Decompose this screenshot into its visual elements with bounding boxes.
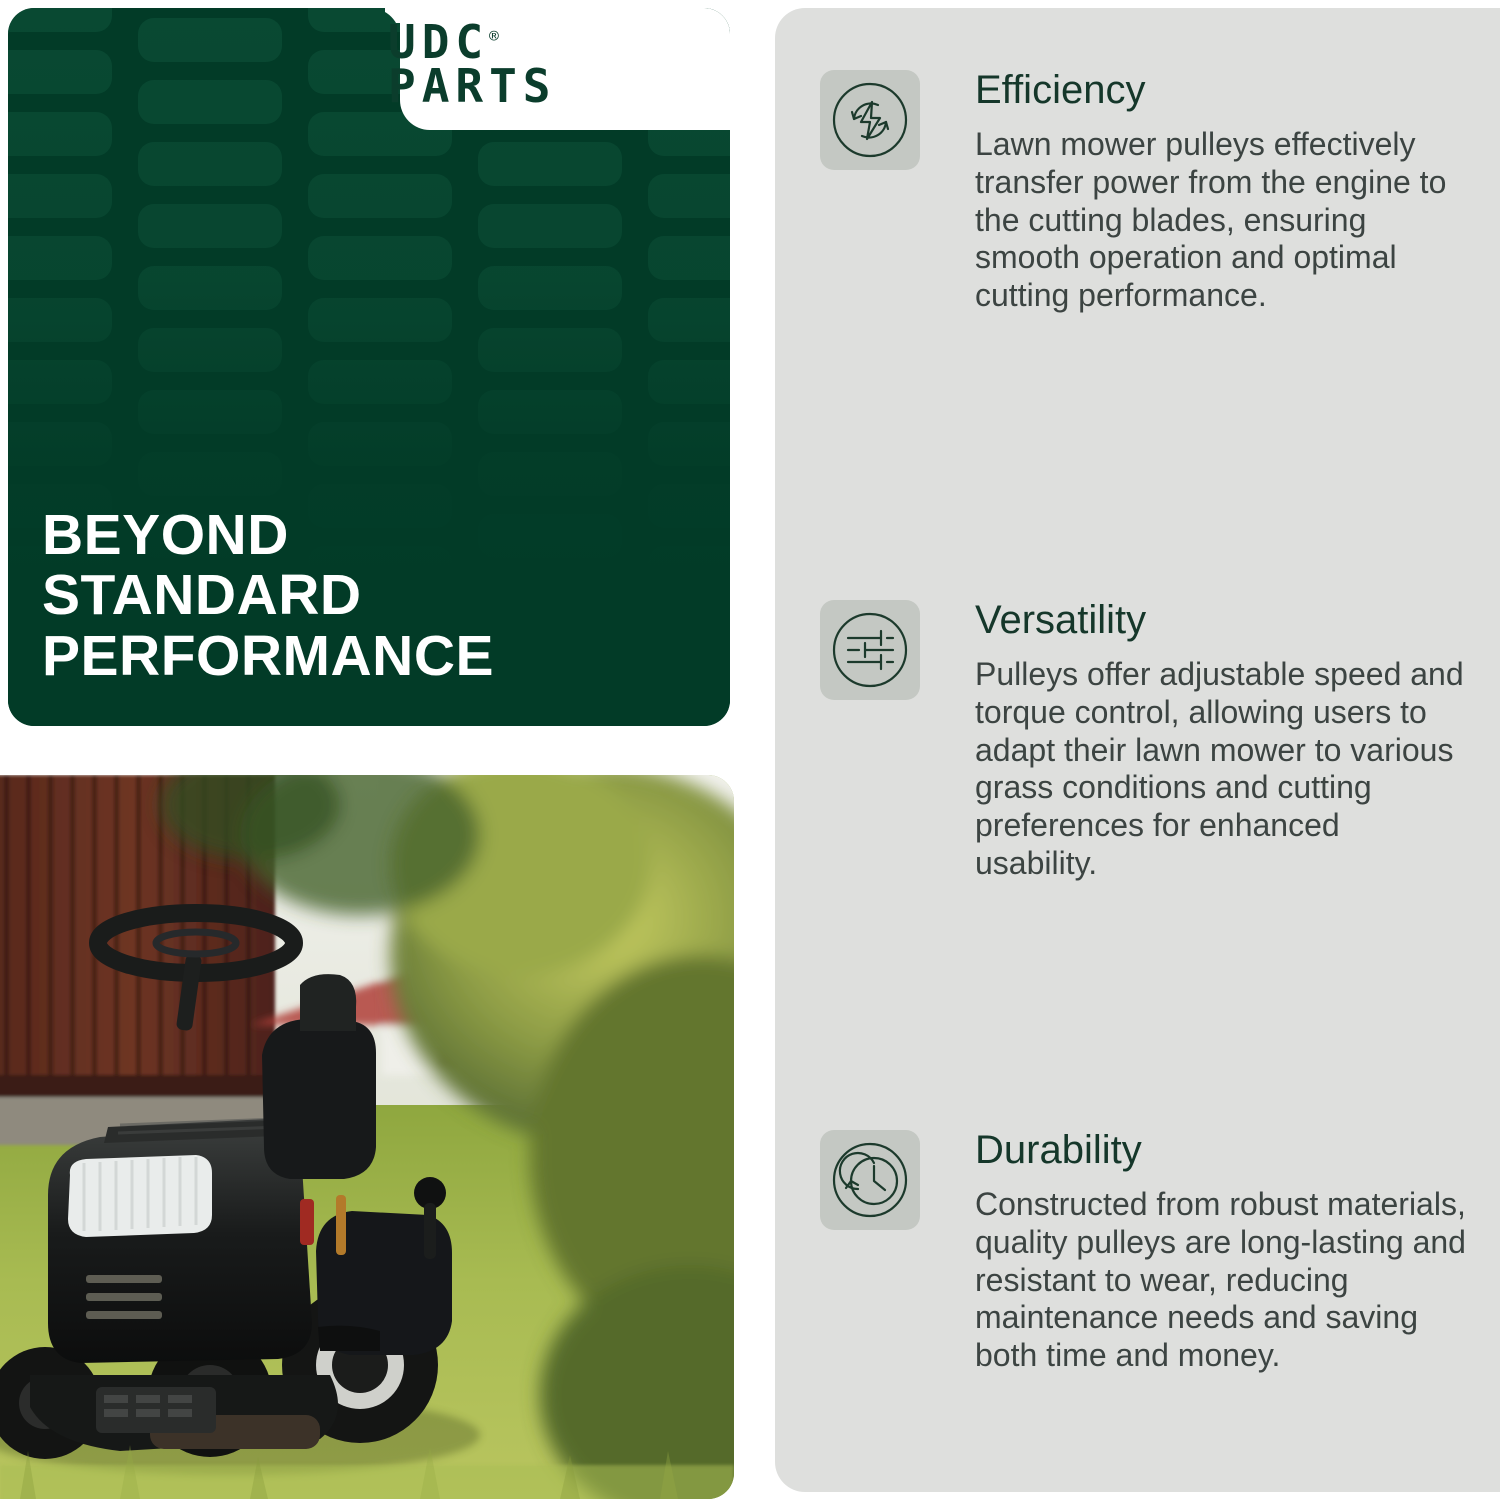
hero-headline-line-1: BEYOND <box>42 505 702 565</box>
lawn-mower-photo <box>0 775 734 1499</box>
left-column: UDC® PARTS BEYOND STANDARD PERFORMANCE <box>0 0 750 1499</box>
feature-description-durability: Constructed from robust materials, quali… <box>975 1186 1470 1375</box>
feature-title-versatility: Versatility <box>975 600 1470 640</box>
brand-logo: UDC® PARTS <box>388 20 688 108</box>
feature-block-efficiency: Efficiency Lawn mower pulleys effectivel… <box>820 70 1470 315</box>
hero-panel: UDC® PARTS BEYOND STANDARD PERFORMANCE <box>8 8 730 726</box>
features-panel: Efficiency Lawn mower pulleys effectivel… <box>775 8 1500 1492</box>
hero-headline-line-2: STANDARD <box>42 565 702 625</box>
feature-block-versatility: Versatility Pulleys offer adjustable spe… <box>820 600 1470 883</box>
sliders-settings-icon <box>820 600 920 700</box>
registered-trademark-icon: ® <box>489 27 499 46</box>
hero-headline: BEYOND STANDARD PERFORMANCE <box>42 505 702 686</box>
feature-title-efficiency: Efficiency <box>975 70 1470 110</box>
energy-recycle-icon <box>820 70 920 170</box>
brand-logo-line-1: UDC® <box>388 20 688 64</box>
feature-body-durability: Durability Constructed from robust mater… <box>975 1130 1470 1375</box>
feature-body-efficiency: Efficiency Lawn mower pulleys effectivel… <box>975 70 1470 315</box>
brand-logo-line-2: PARTS <box>388 64 688 108</box>
feature-description-versatility: Pulleys offer adjustable speed and torqu… <box>975 656 1470 883</box>
feature-body-versatility: Versatility Pulleys offer adjustable spe… <box>975 600 1470 883</box>
feature-description-efficiency: Lawn mower pulleys effectively transfer … <box>975 126 1470 315</box>
feature-block-durability: Durability Constructed from robust mater… <box>820 1130 1470 1375</box>
feature-title-durability: Durability <box>975 1130 1470 1170</box>
hero-headline-line-3: PERFORMANCE <box>42 626 702 686</box>
clock-history-icon <box>820 1130 920 1230</box>
